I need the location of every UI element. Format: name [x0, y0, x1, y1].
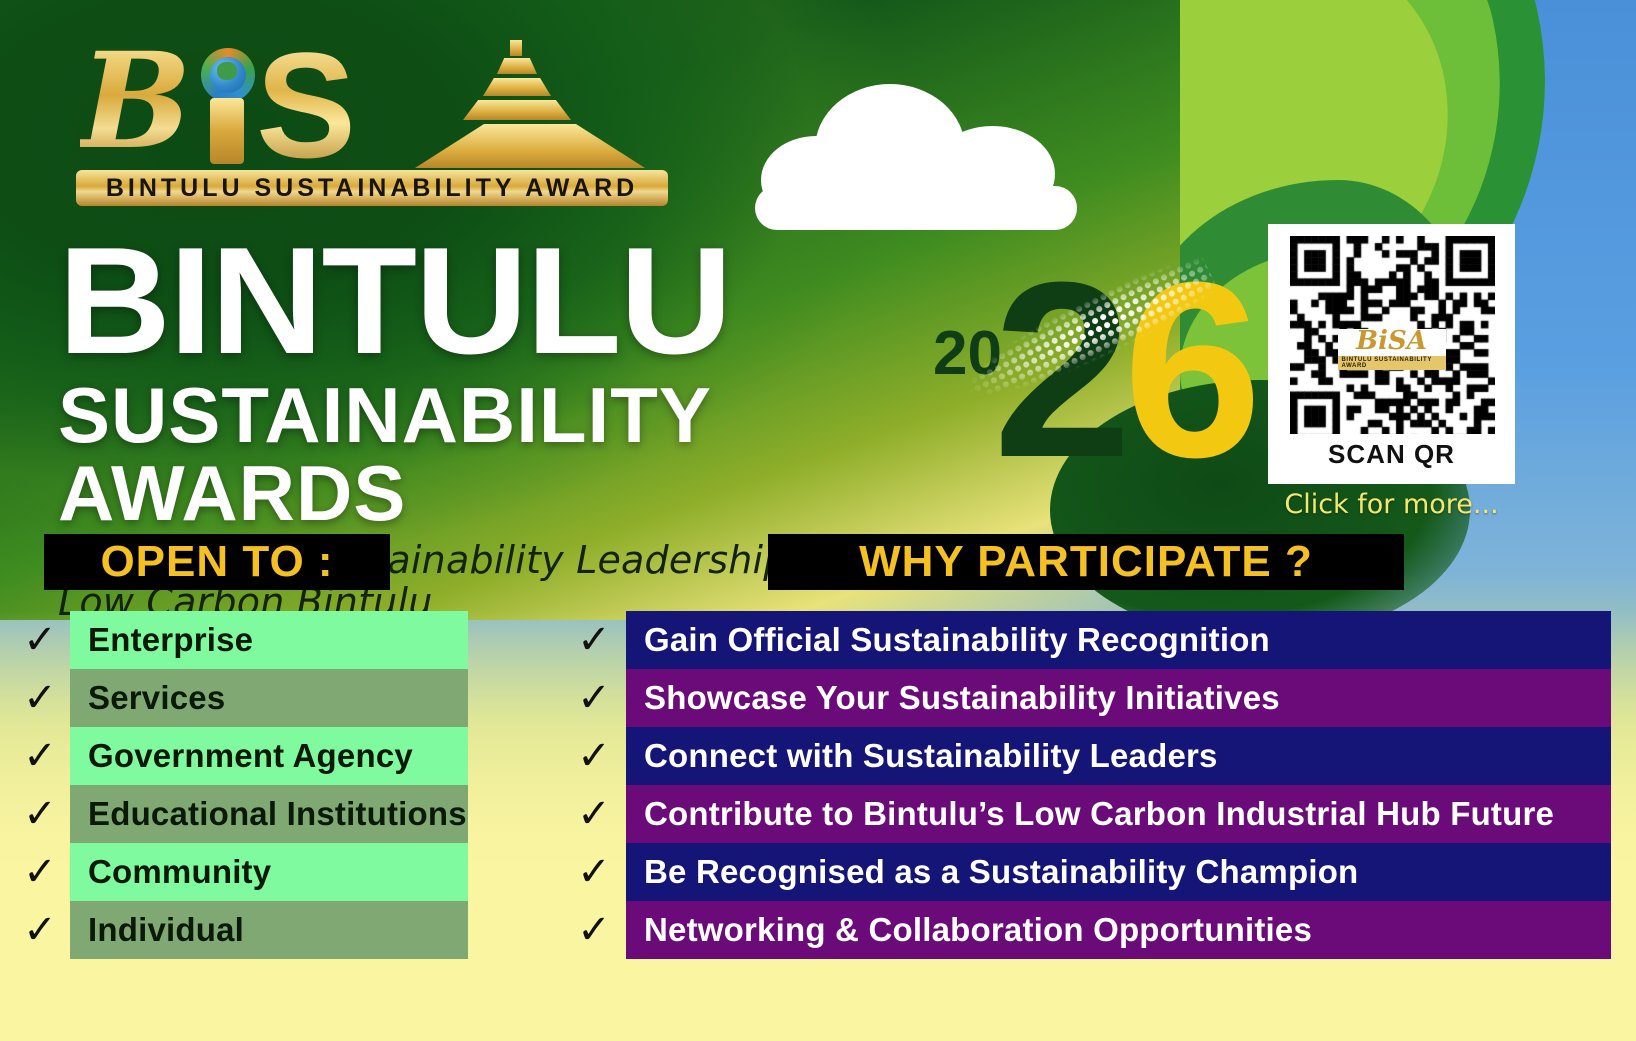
checkmark-icon: ✓: [18, 901, 62, 959]
checkmark-icon: ✓: [18, 669, 62, 727]
open-to-item-label: Educational Institutions: [88, 795, 467, 833]
qr-click-for-more[interactable]: Click for more...: [1268, 489, 1515, 520]
why-participate-list: Gain Official Sustainability Recognition…: [626, 611, 1611, 959]
qr-label: SCAN QR: [1268, 439, 1515, 470]
list-item: Enterprise: [70, 611, 468, 669]
checkmark-icon: ✓: [572, 727, 616, 785]
year-graphic: 2 6 20: [915, 245, 1225, 495]
logo-badge-text: BINTULU SUSTAINABILITY AWARD: [106, 174, 638, 203]
open-to-item-label: Community: [88, 853, 271, 891]
checkmark-icon: ✓: [572, 843, 616, 901]
qr-embedded-logo: BiSA BINTULU SUSTAINABILITY AWARD: [1338, 329, 1446, 369]
checkmark-icon: ✓: [18, 785, 62, 843]
checkmark-icon: ✓: [572, 669, 616, 727]
why-participate-item-label: Connect with Sustainability Leaders: [644, 737, 1218, 775]
list-item: Individual: [70, 901, 468, 959]
list-item: Educational Institutions: [70, 785, 468, 843]
why-participate-banner-label: WHY PARTICIPATE ?: [859, 537, 1313, 587]
checkmark-icon: ✓: [18, 727, 62, 785]
why-participate-banner: WHY PARTICIPATE ?: [768, 534, 1404, 590]
poster-root: B S BINTULU SUSTAINABILITY AWARD BINTULU…: [0, 0, 1636, 1041]
why-participate-item-label: Showcase Your Sustainability Initiatives: [644, 679, 1280, 717]
logo-letter-b: B: [80, 36, 192, 168]
cloud-icon: [755, 78, 1085, 228]
logo-letter-i-stem: [210, 98, 244, 164]
list-item: Gain Official Sustainability Recognition: [626, 611, 1611, 669]
list-item: Government Agency: [70, 727, 468, 785]
checkmark-icon: ✓: [572, 611, 616, 669]
list-item: Contribute to Bintulu’s Low Carbon Indus…: [626, 785, 1611, 843]
open-to-item-label: Individual: [88, 911, 244, 949]
qr-code-card[interactable]: BiSA BINTULU SUSTAINABILITY AWARD SCAN Q…: [1268, 224, 1515, 484]
why-participate-item-label: Gain Official Sustainability Recognition: [644, 621, 1270, 659]
open-to-item-label: Enterprise: [88, 621, 253, 659]
open-to-list: EnterpriseServicesGovernment AgencyEduca…: [70, 611, 468, 959]
checkmark-icon: ✓: [572, 785, 616, 843]
list-item: Be Recognised as a Sustainability Champi…: [626, 843, 1611, 901]
list-item: Connect with Sustainability Leaders: [626, 727, 1611, 785]
list-item: Community: [70, 843, 468, 901]
bisa-logo: B S BINTULU SUSTAINABILITY AWARD: [70, 22, 670, 212]
qr-embedded-logo-main: BiSA: [1356, 328, 1427, 354]
globe-icon: [201, 48, 255, 102]
checkmark-icon: ✓: [572, 901, 616, 959]
page-subtitle: SUSTAINABILITY AWARDS: [58, 376, 968, 532]
open-to-item-label: Government Agency: [88, 737, 413, 775]
tower-icon: [405, 40, 655, 168]
logo-badge: BINTULU SUSTAINABILITY AWARD: [76, 170, 668, 206]
open-to-banner: OPEN TO :: [44, 534, 390, 590]
list-item: Networking & Collaboration Opportunities: [626, 901, 1611, 959]
why-participate-item-label: Networking & Collaboration Opportunities: [644, 911, 1312, 949]
page-title: BINTULU: [58, 232, 995, 372]
why-participate-item-label: Be Recognised as a Sustainability Champi…: [644, 853, 1358, 891]
logo-letter-s: S: [256, 30, 356, 180]
qr-embedded-logo-sub: BINTULU SUSTAINABILITY AWARD: [1338, 356, 1446, 370]
list-item: Services: [70, 669, 468, 727]
open-to-item-label: Services: [88, 679, 225, 717]
bisa-logo-mark: B S: [70, 22, 670, 172]
checkmark-icon: ✓: [18, 843, 62, 901]
list-item: Showcase Your Sustainability Initiatives: [626, 669, 1611, 727]
open-to-checkmarks: ✓✓✓✓✓✓: [18, 611, 62, 959]
open-to-banner-label: OPEN TO :: [100, 537, 333, 587]
why-participate-checkmarks: ✓✓✓✓✓✓: [572, 611, 616, 959]
checkmark-icon: ✓: [18, 611, 62, 669]
why-participate-item-label: Contribute to Bintulu’s Low Carbon Indus…: [644, 795, 1554, 833]
